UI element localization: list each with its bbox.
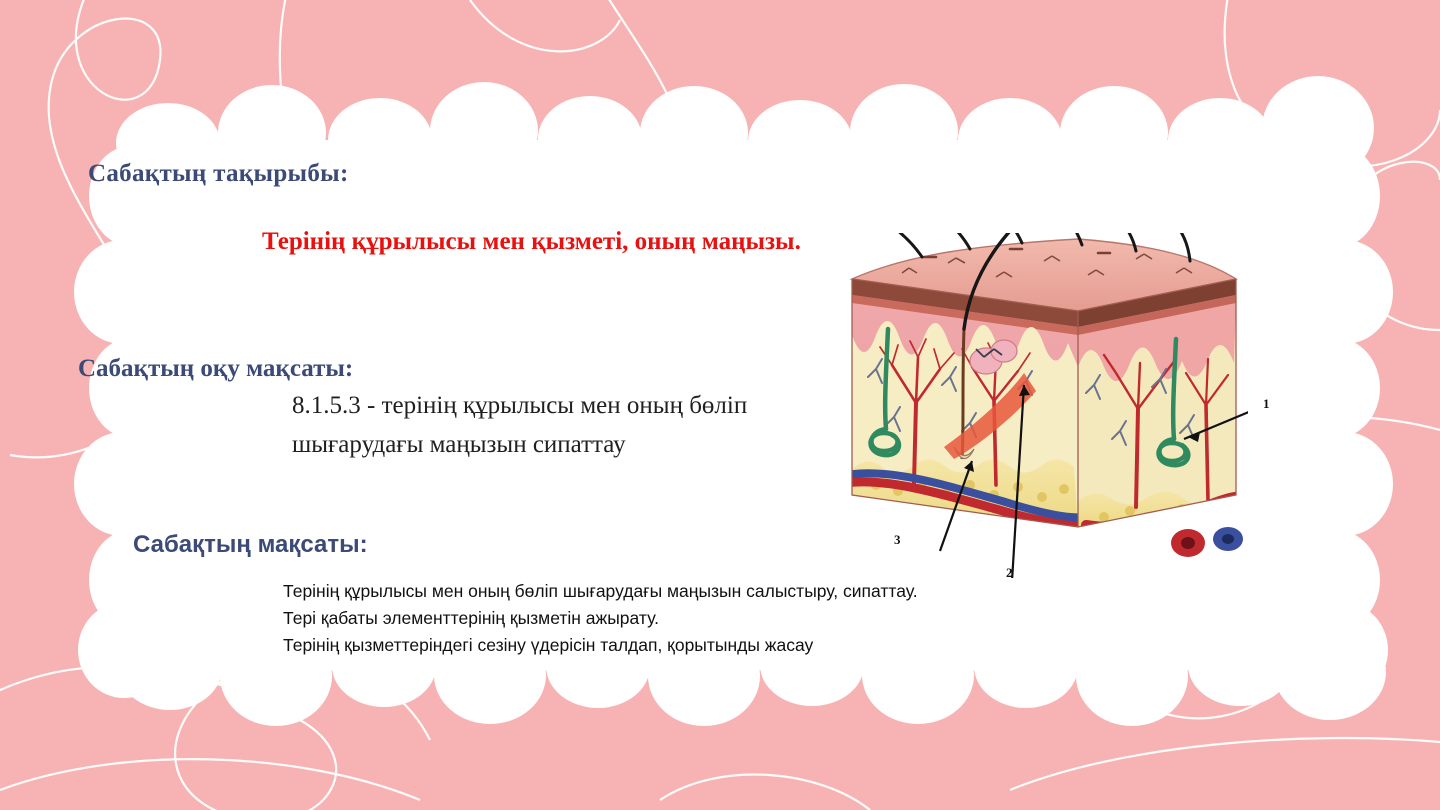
lesson-aim-line-3: Терінің қызметтеріндегі сезіну үдерісін … xyxy=(283,635,813,656)
lesson-topic-label: Сабақтың тақырыбы: xyxy=(88,160,349,188)
skin-cross-section-diagram xyxy=(836,233,1248,578)
diagram-label-2: 2 xyxy=(1006,565,1013,581)
learning-objective-line-2: шығарудағы маңызын сипаттау xyxy=(292,431,626,459)
slide: Сабақтың тақырыбы: Терінің құрылысы мен … xyxy=(0,0,1440,810)
learning-objective-line-1: 8.1.5.3 - терінің құрылысы мен оның бөлі… xyxy=(292,392,747,420)
lesson-topic-title: Терінің құрылысы мен қызметі, оның маңыз… xyxy=(262,228,801,256)
diagram-label-1: 1 xyxy=(1263,396,1270,412)
diagram-label-3: 3 xyxy=(894,532,901,548)
lesson-aim-line-2: Тері қабаты элементтерінің қызметін ажыр… xyxy=(283,608,659,629)
learning-objective-label: Сабақтың оқу мақсаты: xyxy=(78,355,353,383)
lesson-aim-label: Сабақтың мақсаты: xyxy=(133,531,368,559)
lesson-aim-line-1: Терінің құрылысы мен оның бөліп шығаруда… xyxy=(283,581,918,602)
